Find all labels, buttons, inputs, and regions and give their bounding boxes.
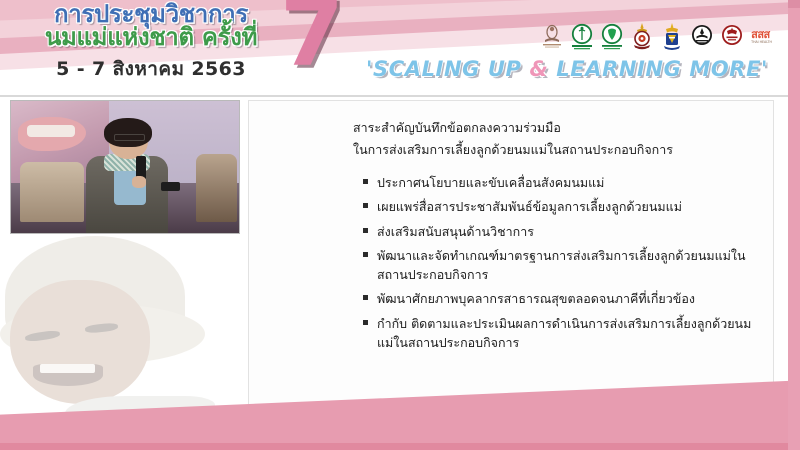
speaker-hair [104, 118, 152, 147]
list-item: ประกาศนโยบายและขับเคลื่อนสังคมนมแม่ [363, 173, 763, 192]
list-item: พัฒนาศักยภาพบุคลากรสาธารณสุขตลอดจนภาคีที… [363, 289, 763, 308]
tagline-ampersand: & [529, 57, 548, 81]
tagline-text-part-2: LEARNING MORE' [548, 57, 768, 81]
thaihealth-sss-logo-sublabel: THAI HEALTH [751, 41, 772, 44]
slide-frame-top-right [788, 0, 800, 8]
child-teeth [40, 364, 95, 373]
list-item: กำกับ ติดตามและประเมินผลการดำเนินการส่งเ… [363, 314, 763, 353]
health-department-logo [599, 22, 624, 51]
royal-crest-logo [629, 22, 654, 51]
stage-chair-left [20, 162, 84, 223]
child-face [10, 280, 150, 404]
sponsor-logo-strip: สสส THAI HEALTH [539, 22, 774, 51]
conference-tagline: 'SCALING UP & LEARNING MORE' [352, 57, 782, 81]
footer-edge-strip [0, 443, 800, 450]
stage-chair-right [196, 154, 237, 223]
conference-edition-number: 7 [280, 0, 344, 80]
backdrop-teeth-graphic [27, 125, 75, 137]
speaker-hand [132, 176, 146, 188]
list-item: เผยแพร่สื่อสารประชาสัมพันธ์ข้อมูลการเลี้… [363, 197, 763, 216]
slide-bullet-list: ประกาศนโยบายและขับเคลื่อนสังคมนมแม่ เผยแ… [363, 173, 763, 357]
conference-date: 5 - 7 สิงหาคม 2563 [8, 54, 294, 84]
list-item: ส่งเสริมสนับสนุนด้านวิชาการ [363, 222, 763, 241]
presentation-slide: การประชุมวิชาการ นมแม่แห่งชาติ ครั้งที่ … [0, 0, 800, 450]
thaihealth-sss-logo: สสส THAI HEALTH [749, 22, 774, 51]
header-divider [0, 95, 788, 97]
presentation-clicker [161, 182, 179, 191]
slide-heading: สาระสำคัญบันทึกข้อตกลงความร่วมมือ ในการส… [353, 117, 673, 162]
thai-royal-emblem-logo [539, 22, 564, 51]
ministry-public-health-logo [569, 22, 594, 51]
slide-heading-line-1: สาระสำคัญบันทึกข้อตกลงความร่วมมือ [353, 117, 673, 139]
speaker-video-feed[interactable] [10, 100, 240, 234]
conference-title-line-2: นมแม่แห่งชาติ ครั้งที่ [8, 25, 294, 49]
university-crest-logo [659, 22, 684, 51]
slide-heading-line-2: ในการส่งเสริมการเลี้ยงลูกด้วยนมแม่ในสถาน… [353, 139, 673, 161]
tagline-text-part-1: 'SCALING UP [366, 57, 530, 81]
nursing-council-logo [689, 22, 714, 51]
pediatric-society-logo [719, 22, 744, 51]
conference-title-block: การประชุมวิชาการ นมแม่แห่งชาติ ครั้งที่ … [8, 2, 294, 84]
conference-header-banner: การประชุมวิชาการ นมแม่แห่งชาติ ครั้งที่ … [0, 0, 788, 97]
slide-content-area: สาระสำคัญบันทึกข้อตกลงความร่วมมือ ในการส… [248, 100, 774, 418]
thaihealth-sss-logo-label: สสส [751, 28, 770, 41]
speaker-glasses [114, 134, 146, 141]
list-item: พัฒนาและจัดทำเกณฑ์มาตรฐานการส่งเสริมการเ… [363, 246, 763, 285]
thaihealth-sss-logo-text: สสส THAI HEALTH [751, 29, 772, 44]
